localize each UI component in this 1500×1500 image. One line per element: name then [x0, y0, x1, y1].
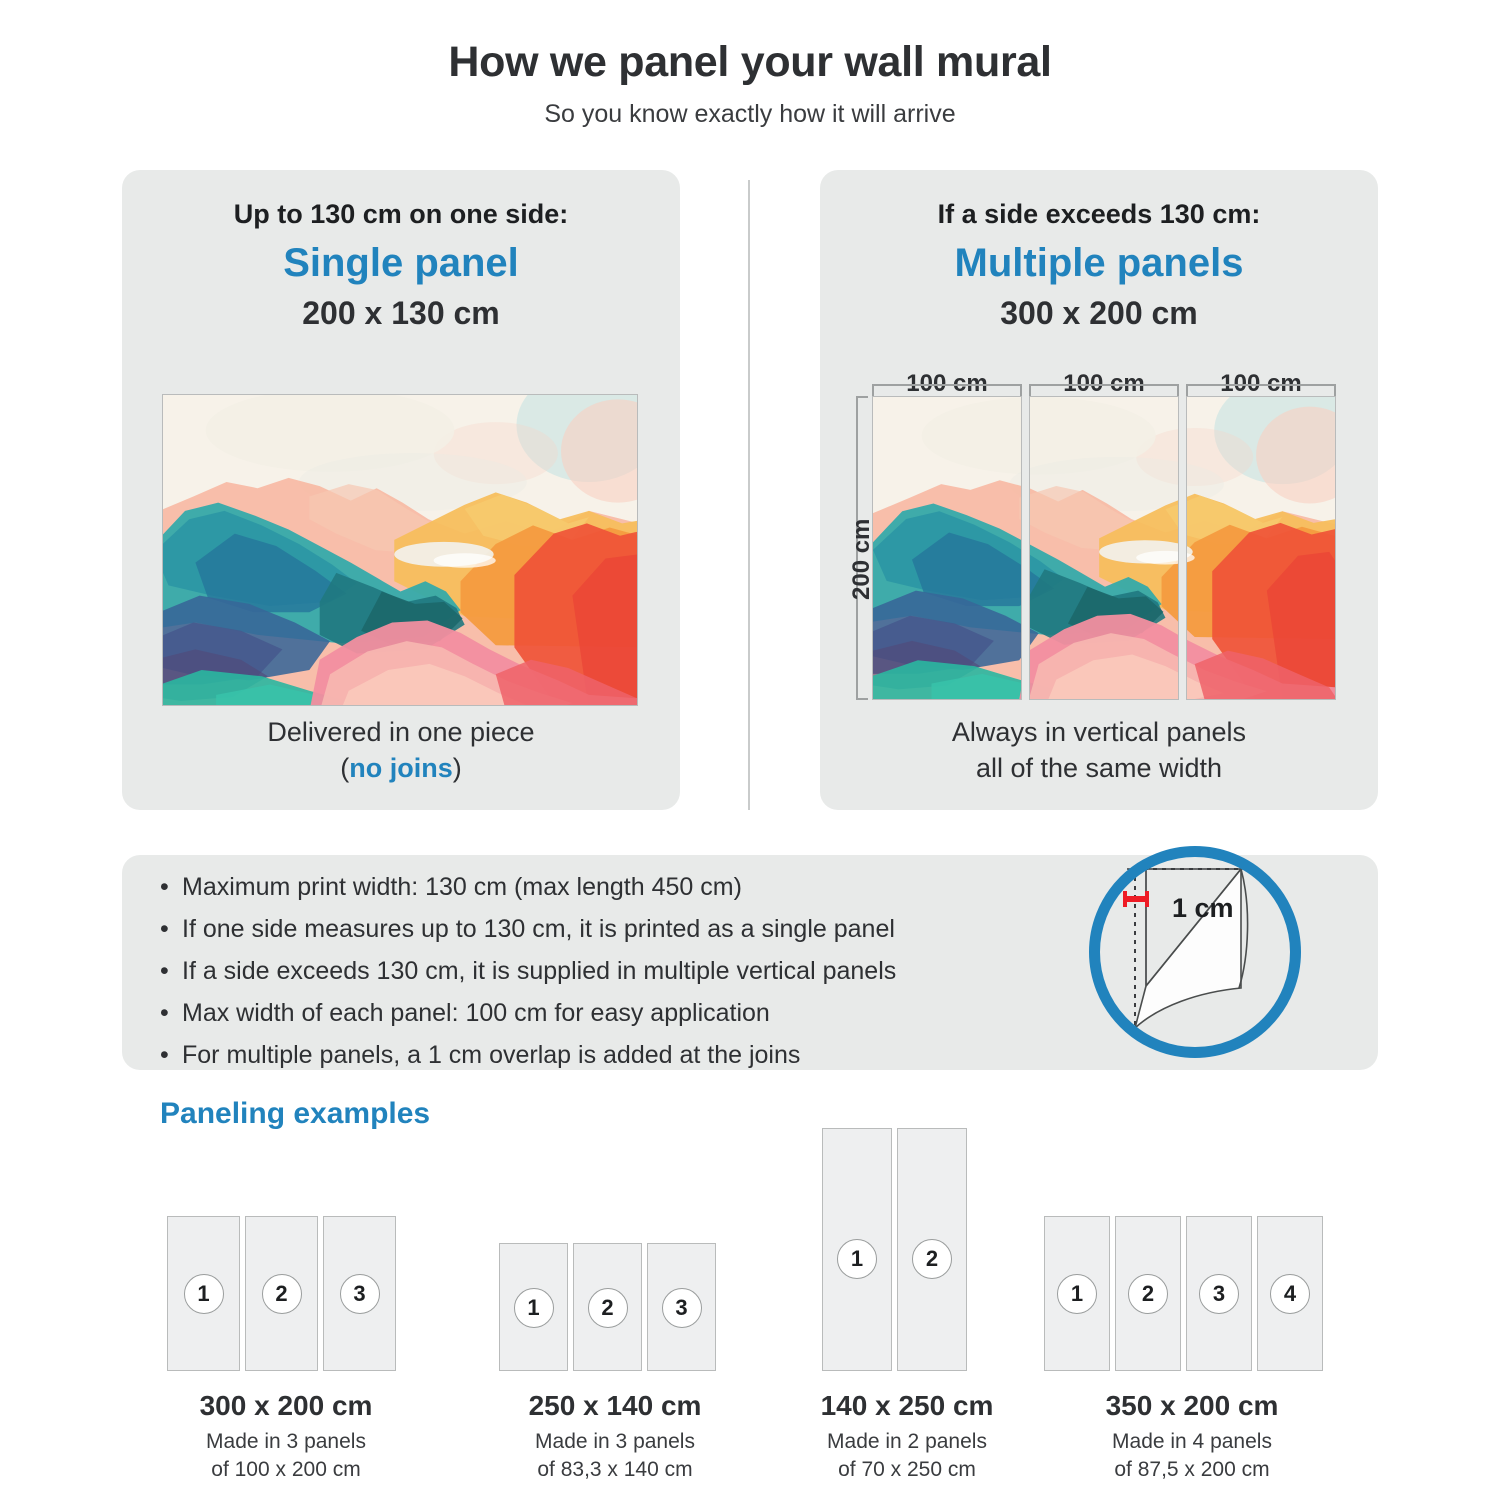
single-panel-kicker: Up to 130 cm on one side:	[122, 198, 680, 230]
paren-close: )	[453, 753, 462, 783]
example-2-panel-2: 2	[573, 1243, 642, 1371]
example-3-panels: 1 2	[822, 1128, 967, 1371]
rule-text: If a side exceeds 130 cm, it is supplied…	[182, 959, 1080, 984]
multiple-panels-caption: Always in vertical panels all of the sam…	[820, 715, 1378, 786]
multiple-panels-size: 300 x 200 cm	[820, 294, 1378, 332]
rule-item: • Maximum print width: 130 cm (max lengt…	[160, 875, 1080, 900]
single-panel-size: 200 x 130 cm	[122, 294, 680, 332]
card-divider	[748, 180, 750, 810]
example-3-subtitle: Made in 2 panels of 70 x 250 cm	[757, 1428, 1057, 1483]
mural-artwork-slice-1	[873, 397, 1022, 699]
example-1-title: 300 x 200 cm	[136, 1390, 436, 1422]
panel-number-badge: 2	[1128, 1274, 1168, 1314]
example-4-panel-4: 4	[1257, 1216, 1323, 1371]
example-4-panel-3: 3	[1186, 1216, 1252, 1371]
example-3-panel-2: 2	[897, 1128, 967, 1371]
panel-number-badge: 2	[588, 1288, 628, 1328]
mural-artwork	[162, 394, 638, 706]
example-4-panel-2: 2	[1115, 1216, 1181, 1371]
rule-text: For multiple panels, a 1 cm overlap is a…	[182, 1043, 1080, 1068]
panel-number-badge: 3	[340, 1274, 380, 1314]
example-1-panels: 1 2 3	[167, 1216, 396, 1371]
example-2-panel-3: 3	[647, 1243, 716, 1371]
example-1-panel-2: 2	[245, 1216, 318, 1371]
panel-number-badge: 2	[262, 1274, 302, 1314]
paneling-examples-heading: Paneling examples	[160, 1097, 430, 1131]
mural-panel-2	[1029, 396, 1179, 700]
overlap-circle-ring	[1089, 846, 1301, 1058]
multiple-panels-card-header: If a side exceeds 130 cm: Multiple panel…	[820, 170, 1378, 333]
example-1-subtitle-line1: Made in 3 panels	[136, 1428, 436, 1456]
example-2-title: 250 x 140 cm	[475, 1390, 755, 1422]
infographic-page: How we panel your wall mural So you know…	[0, 0, 1500, 1500]
rules-list: • Maximum print width: 130 cm (max lengt…	[160, 875, 1080, 1085]
example-2-subtitle: Made in 3 panels of 83,3 x 140 cm	[475, 1428, 755, 1483]
rule-item: • For multiple panels, a 1 cm overlap is…	[160, 1043, 1080, 1068]
panel-number-badge: 3	[1199, 1274, 1239, 1314]
multiple-panels-mural-image	[872, 396, 1336, 700]
mural-panel-3	[1186, 396, 1336, 700]
example-1-panel-3: 3	[323, 1216, 396, 1371]
no-joins-highlight: no joins	[349, 753, 453, 783]
example-1-panel-1: 1	[167, 1216, 240, 1371]
panel-number-badge: 4	[1270, 1274, 1310, 1314]
single-panel-caption: Delivered in one piece (no joins)	[122, 715, 680, 786]
width-bracket-2	[1029, 384, 1179, 396]
multiple-panels-heading: Multiple panels	[820, 238, 1378, 288]
example-3-subtitle-line1: Made in 2 panels	[757, 1428, 1057, 1456]
overlap-measure-label: 1 cm	[1172, 893, 1234, 924]
single-panel-caption-line2: (no joins)	[122, 751, 680, 787]
example-4-panels: 1 2 3 4	[1044, 1216, 1323, 1371]
rule-text: Max width of each panel: 100 cm for easy…	[182, 1001, 1080, 1026]
example-3-title: 140 x 250 cm	[757, 1390, 1057, 1422]
rule-text: Maximum print width: 130 cm (max length …	[182, 875, 1080, 900]
bullet-icon: •	[160, 875, 182, 900]
example-4-subtitle: Made in 4 panels of 87,5 x 200 cm	[1042, 1428, 1342, 1483]
single-panel-caption-line1: Delivered in one piece	[122, 715, 680, 751]
panel-number-badge: 1	[1057, 1274, 1097, 1314]
mural-panel-1	[872, 396, 1022, 700]
page-header: How we panel your wall mural So you know…	[0, 38, 1500, 129]
multiple-panels-caption-line2: all of the same width	[820, 751, 1378, 787]
rule-text: If one side measures up to 130 cm, it is…	[182, 917, 1080, 942]
single-panel-card-header: Up to 130 cm on one side: Single panel 2…	[122, 170, 680, 333]
rule-item: • Max width of each panel: 100 cm for ea…	[160, 1001, 1080, 1026]
example-4-subtitle-line2: of 87,5 x 200 cm	[1042, 1456, 1342, 1484]
single-panel-heading: Single panel	[122, 238, 680, 288]
page-subtitle: So you know exactly how it will arrive	[0, 99, 1500, 129]
mural-artwork-slice-2	[1029, 397, 1179, 699]
rule-item: • If a side exceeds 130 cm, it is suppli…	[160, 959, 1080, 984]
width-bracket-1	[872, 384, 1022, 396]
single-panel-mural-image	[162, 394, 638, 706]
panel-number-badge: 2	[912, 1239, 952, 1279]
example-2-subtitle-line1: Made in 3 panels	[475, 1428, 755, 1456]
example-4-panel-1: 1	[1044, 1216, 1110, 1371]
bullet-icon: •	[160, 1043, 182, 1068]
panel-number-badge: 1	[184, 1274, 224, 1314]
bullet-icon: •	[160, 917, 182, 942]
page-title: How we panel your wall mural	[0, 38, 1500, 87]
multiple-panels-kicker: If a side exceeds 130 cm:	[820, 198, 1378, 230]
example-1-subtitle: Made in 3 panels of 100 x 200 cm	[136, 1428, 436, 1483]
example-1-subtitle-line2: of 100 x 200 cm	[136, 1456, 436, 1484]
bullet-icon: •	[160, 1001, 182, 1026]
panel-number-badge: 1	[514, 1288, 554, 1328]
example-2-panels: 1 2 3	[499, 1243, 716, 1371]
panel-number-badge: 1	[837, 1239, 877, 1279]
example-2-panel-1: 1	[499, 1243, 568, 1371]
example-4-title: 350 x 200 cm	[1042, 1390, 1342, 1422]
example-4-subtitle-line1: Made in 4 panels	[1042, 1428, 1342, 1456]
width-bracket-3	[1186, 384, 1336, 396]
multiple-panels-caption-line1: Always in vertical panels	[820, 715, 1378, 751]
rule-item: • If one side measures up to 130 cm, it …	[160, 917, 1080, 942]
mural-artwork-slice-3	[1186, 397, 1336, 699]
example-2-subtitle-line2: of 83,3 x 140 cm	[475, 1456, 755, 1484]
paren-open: (	[340, 753, 349, 783]
panel-number-badge: 3	[662, 1288, 702, 1328]
example-3-panel-1: 1	[822, 1128, 892, 1371]
bullet-icon: •	[160, 959, 182, 984]
example-3-subtitle-line2: of 70 x 250 cm	[757, 1456, 1057, 1484]
